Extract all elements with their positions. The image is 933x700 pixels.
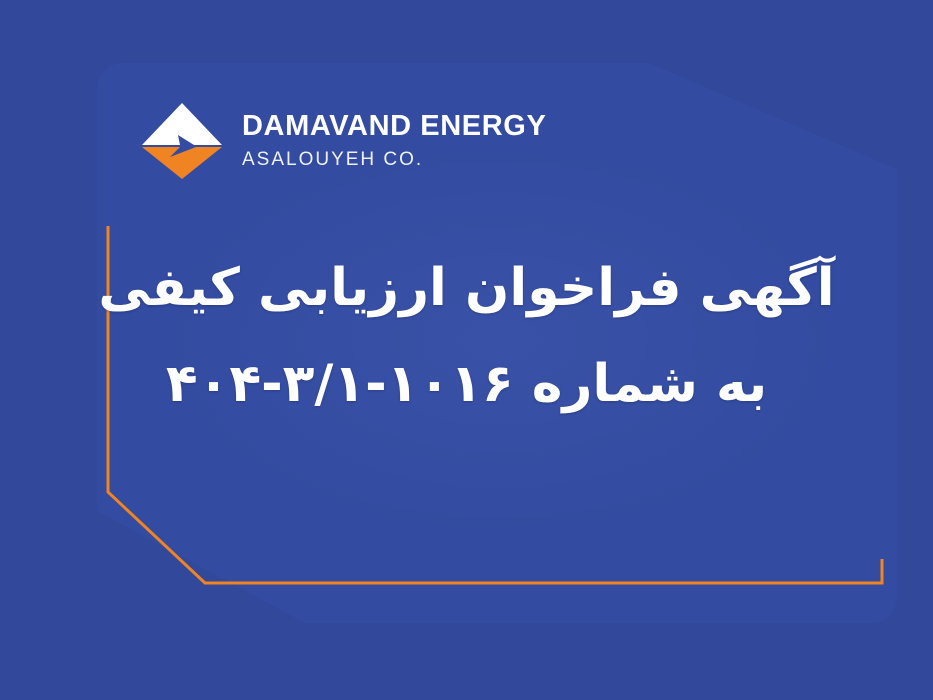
headline-block: آگهی فراخوان ارزیابی کیفی به شماره ۱۰۱۶-… <box>0 262 933 410</box>
logo-title: DAMAVAND ENERGY <box>242 111 546 141</box>
announcement-poster: DAMAVAND ENERGY ASALOUYEH CO. آگهی فراخو… <box>0 0 933 700</box>
headline-line-1: آگهی فراخوان ارزیابی کیفی <box>0 262 933 314</box>
logo-wordmark: DAMAVAND ENERGY ASALOUYEH CO. <box>242 111 546 170</box>
damavand-mountain-lightning-icon <box>140 101 224 181</box>
headline-line-2: به شماره ۱۰۱۶-۳/۱-۴۰۴ <box>0 358 933 410</box>
logo-subtitle: ASALOUYEH CO. <box>242 150 546 171</box>
company-logo: DAMAVAND ENERGY ASALOUYEH CO. <box>140 101 546 181</box>
